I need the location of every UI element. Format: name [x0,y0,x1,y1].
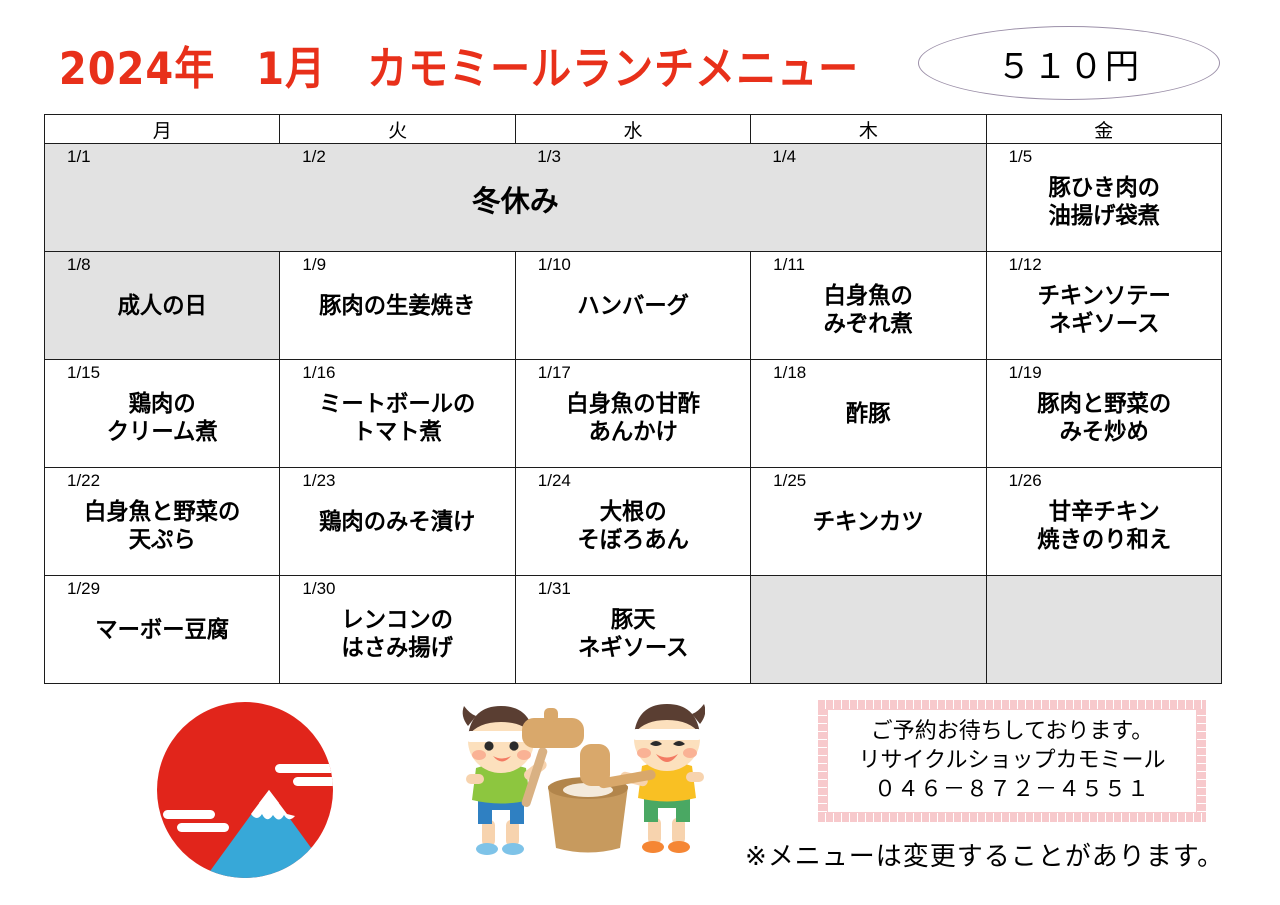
menu-cell-1-29: 1/29 マーボー豆腐 [45,576,280,684]
dish-label-1-26: 甘辛チキン 焼きのり和え [990,498,1217,554]
winter-break-dates: 1/1 1/2 1/3 1/4 [45,147,986,167]
menu-cell-1-30: 1/30 レンコンの はさみ揚げ [280,576,515,684]
price-label: ５１０円 [997,39,1141,88]
date-label-1-11: 1/11 [773,255,805,275]
page-header: 2024年 1月 カモミールランチメニュー ５１０円 [0,0,1280,110]
date-label-1-8: 1/8 [67,255,91,275]
date-label-1-2: 1/2 [280,147,515,167]
dish-label-1-9: 豚肉の生姜焼き [284,292,511,320]
menu-cell-1-5: 1/5 豚ひき肉の 油揚げ袋煮 [986,144,1221,252]
shop-phone: ０４６－８７２－４５５１ [874,776,1150,804]
week-row-1: 1/1 1/2 1/3 1/4 冬休み 1/5 豚ひき肉の 油揚げ袋煮 [45,144,1222,252]
date-label-1-1: 1/1 [45,147,280,167]
date-label-1-3: 1/3 [515,147,750,167]
date-label-1-30: 1/30 [302,579,335,599]
reservation-notice-stamp: ご予約お待ちしております。 リサイクルショップカモミール ０４６－８７２－４５５… [818,700,1206,822]
date-label-1-22: 1/22 [67,471,100,491]
weekday-header-row: 月 火 水 木 金 [45,115,1222,144]
menu-cell-1-24: 1/24 大根の そぼろあん [515,468,750,576]
weekday-header-mon: 月 [45,115,280,144]
menu-cell-1-8: 1/8 成人の日 [45,252,280,360]
menu-cell-1-12: 1/12 チキンソテー ネギソース [986,252,1221,360]
date-label-1-5: 1/5 [1009,147,1033,167]
page-title: 2024年 1月 カモミールランチメニュー [44,33,874,98]
menu-cell-1-22: 1/22 白身魚と野菜の 天ぷら [45,468,280,576]
dish-label-1-23: 鶏肉のみそ漬け [284,508,511,536]
dish-label-1-30: レンコンの はさみ揚げ [284,606,511,662]
menu-cell-1-31: 1/31 豚天 ネギソース [515,576,750,684]
menu-cell-1-10: 1/10 ハンバーグ [515,252,750,360]
menu-cell-1-15: 1/15 鶏肉の クリーム煮 [45,360,280,468]
date-label-1-15: 1/15 [67,363,100,383]
week-row-3: 1/15 鶏肉の クリーム煮 1/16 ミートボールの トマト煮 1/17 白身… [45,360,1222,468]
date-label-1-9: 1/9 [302,255,326,275]
week-row-4: 1/22 白身魚と野菜の 天ぷら 1/23 鶏肉のみそ漬け 1/24 大根の そ… [45,468,1222,576]
dish-label-1-8: 成人の日 [49,292,276,320]
menu-change-note: ※メニューは変更することがあります。 [745,836,1224,873]
menu-cell-1-18: 1/18 酢豚 [751,360,986,468]
lunch-menu-calendar: 月 火 水 木 金 1/1 1/2 1/3 1/4 冬休み 1/5 豚ひき肉の [44,114,1222,684]
mortar [548,777,628,853]
date-label-1-17: 1/17 [538,363,571,383]
week-row-5: 1/29 マーボー豆腐 1/30 レンコンの はさみ揚げ 1/31 豚天 ネギソ… [45,576,1222,684]
dish-label-1-24: 大根の そぼろあん [519,498,746,554]
mochi-pounding-kids-icon [430,700,705,870]
weekday-header-tue: 火 [280,115,515,144]
sun-fuji-icon [147,698,352,898]
week-row-2: 1/8 成人の日 1/9 豚肉の生姜焼き 1/10 ハンバーグ 1/11 [45,252,1222,360]
dish-label-1-11: 白身魚の みぞれ煮 [755,282,982,338]
weekday-header-thu: 木 [751,115,986,144]
date-label-1-23: 1/23 [302,471,335,491]
menu-cell-1-9: 1/9 豚肉の生姜焼き [280,252,515,360]
menu-cell-empty-thu [751,576,986,684]
date-label-1-18: 1/18 [773,363,806,383]
date-label-1-4: 1/4 [750,147,985,167]
date-label-1-16: 1/16 [302,363,335,383]
menu-cell-1-23: 1/23 鶏肉のみそ漬け [280,468,515,576]
dish-label-1-15: 鶏肉の クリーム煮 [49,390,276,446]
price-badge: ５１０円 [918,26,1220,100]
menu-cell-empty-fri [986,576,1221,684]
page-footer: ご予約お待ちしております。 リサイクルショップカモミール ０４６－８７２－４５５… [0,690,1280,905]
date-label-1-19: 1/19 [1009,363,1042,383]
menu-cell-1-11: 1/11 白身魚の みぞれ煮 [751,252,986,360]
menu-cell-1-25: 1/25 チキンカツ [751,468,986,576]
dish-label-1-12: チキンソテー ネギソース [990,282,1217,338]
dish-label-1-10: ハンバーグ [519,292,746,320]
dish-label-1-5: 豚ひき肉の 油揚げ袋煮 [990,174,1217,230]
dish-label-1-29: マーボー豆腐 [49,616,276,644]
dish-label-1-22: 白身魚と野菜の 天ぷら [49,498,276,554]
dish-label-1-16: ミートボールの トマト煮 [284,390,511,446]
date-label-1-12: 1/12 [1009,255,1042,275]
shop-name: リサイクルショップカモミール [859,747,1166,775]
weekday-header-fri: 金 [986,115,1221,144]
winter-break-label: 冬休み [45,178,986,220]
dish-label-1-25: チキンカツ [755,508,982,536]
date-label-1-24: 1/24 [538,471,571,491]
date-label-1-29: 1/29 [67,579,100,599]
dish-label-1-19: 豚肉と野菜の みそ炒め [990,390,1217,446]
dish-label-1-18: 酢豚 [755,400,982,428]
dish-label-1-17: 白身魚の甘酢 あんかけ [519,390,746,446]
menu-cell-1-16: 1/16 ミートボールの トマト煮 [280,360,515,468]
menu-cell-1-26: 1/26 甘辛チキン 焼きのり和え [986,468,1221,576]
menu-cell-1-19: 1/19 豚肉と野菜の みそ炒め [986,360,1221,468]
dish-label-1-31: 豚天 ネギソース [519,606,746,662]
date-label-1-31: 1/31 [538,579,571,599]
date-label-1-26: 1/26 [1009,471,1042,491]
date-label-1-10: 1/10 [538,255,571,275]
reservation-text: ご予約お待ちしております。 [871,718,1153,746]
menu-cell-1-17: 1/17 白身魚の甘酢 あんかけ [515,360,750,468]
date-label-1-25: 1/25 [773,471,806,491]
winter-break-cell: 1/1 1/2 1/3 1/4 冬休み [45,144,987,252]
weekday-header-wed: 水 [515,115,750,144]
